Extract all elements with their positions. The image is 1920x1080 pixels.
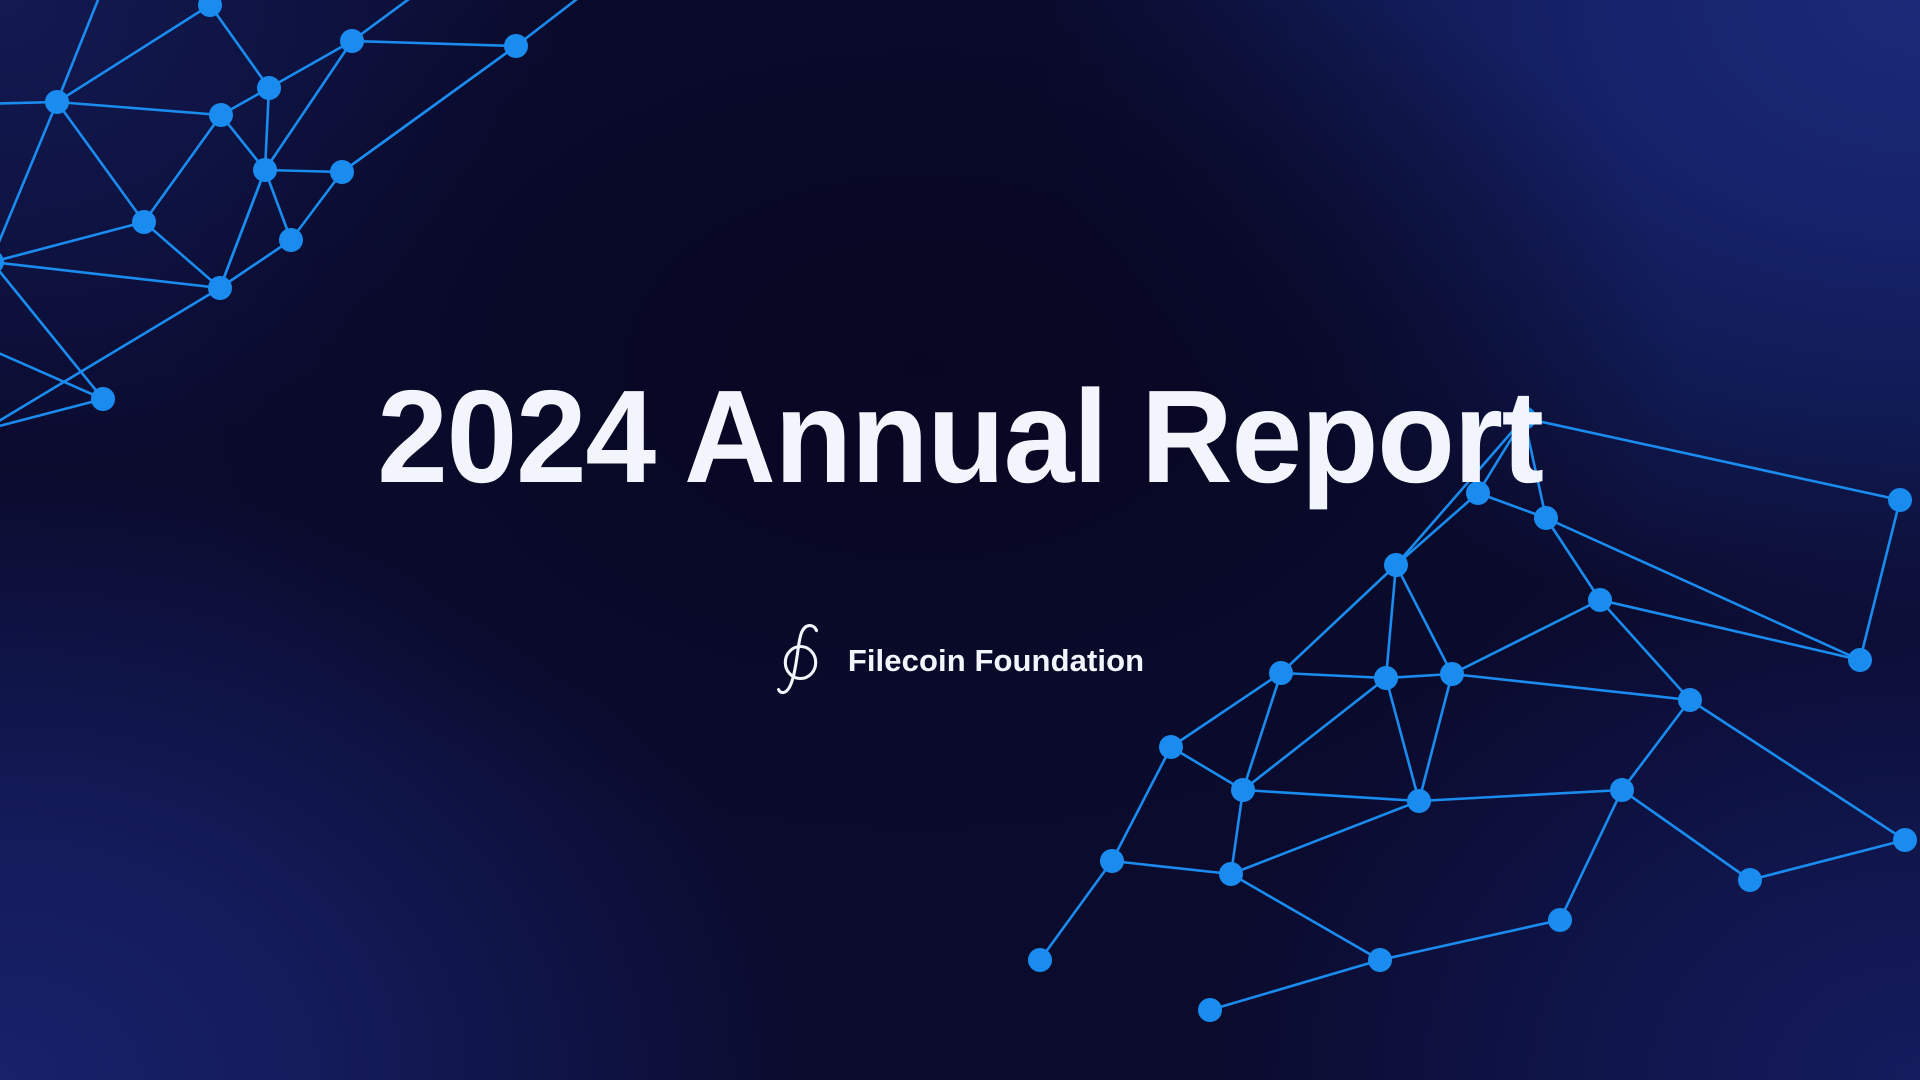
cover-content: 2024 Annual Report Filecoin Foundation xyxy=(0,0,1920,1080)
report-cover: 2024 Annual Report Filecoin Foundation xyxy=(0,0,1920,1080)
brand-name: Filecoin Foundation xyxy=(848,643,1144,679)
brand-lockup: Filecoin Foundation xyxy=(776,622,1144,700)
page-title: 2024 Annual Report xyxy=(377,370,1542,505)
filecoin-foundation-mark-icon xyxy=(776,622,828,700)
